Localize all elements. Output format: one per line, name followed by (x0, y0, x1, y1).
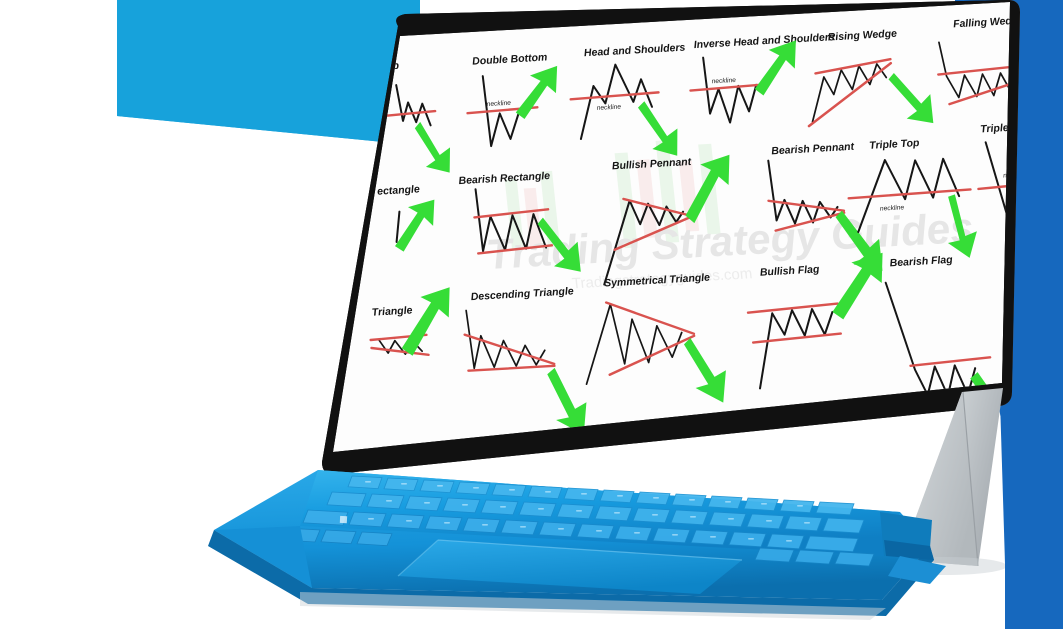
neckline-label: neckline (711, 77, 736, 85)
neckline-label: neckline (596, 104, 621, 112)
pattern-label: ectangle (377, 183, 421, 197)
neckline-label: neckline (880, 204, 905, 212)
screenshot-stage: Trading Strategy Guides Tradingstrategyg… (0, 0, 1063, 629)
windows-key-icon (340, 516, 347, 523)
neckline-label: neckline (486, 100, 511, 108)
pattern-label: Triangle (371, 305, 413, 319)
decor-blue-bottomright (1005, 470, 1063, 629)
